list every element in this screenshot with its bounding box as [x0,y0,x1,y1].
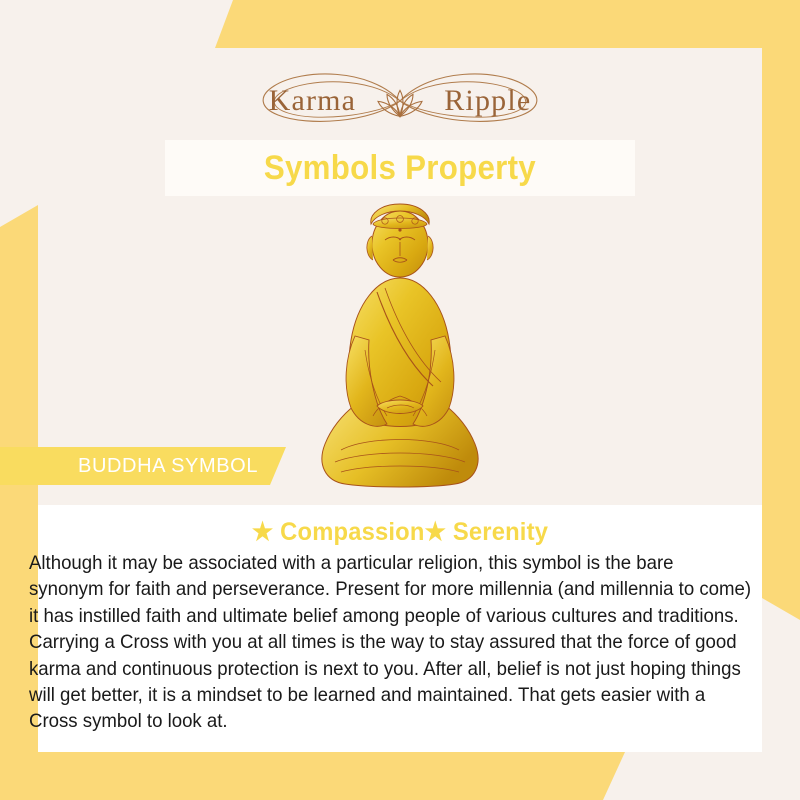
seated-buddha-icon [315,200,485,490]
brand-name-right: Ripple [444,84,531,118]
brand-logo: Karma Ripple [38,48,762,153]
page-surface: Karma Ripple Symbols Property [38,48,762,752]
content-panel: ★ Compassion★ Serenity Although it may b… [38,505,762,752]
title-band: Symbols Property [165,140,635,196]
ribbon-label-text: BUDDHA SYMBOL [78,455,258,478]
brand-name-left: Karma [269,84,357,118]
page-title: Symbols Property [264,149,536,188]
frame-band-right [762,0,800,620]
poster-root: Karma Ripple Symbols Property [0,0,800,800]
frame-band-bottom [0,752,625,800]
lotus-icon [377,85,423,119]
virtues-heading: ★ Compassion★ Serenity [56,505,744,551]
frame-band-top [215,0,800,48]
body-paragraph: Although it may be associated with a par… [29,551,752,736]
symbol-ribbon-label: BUDDHA SYMBOL [0,447,286,485]
